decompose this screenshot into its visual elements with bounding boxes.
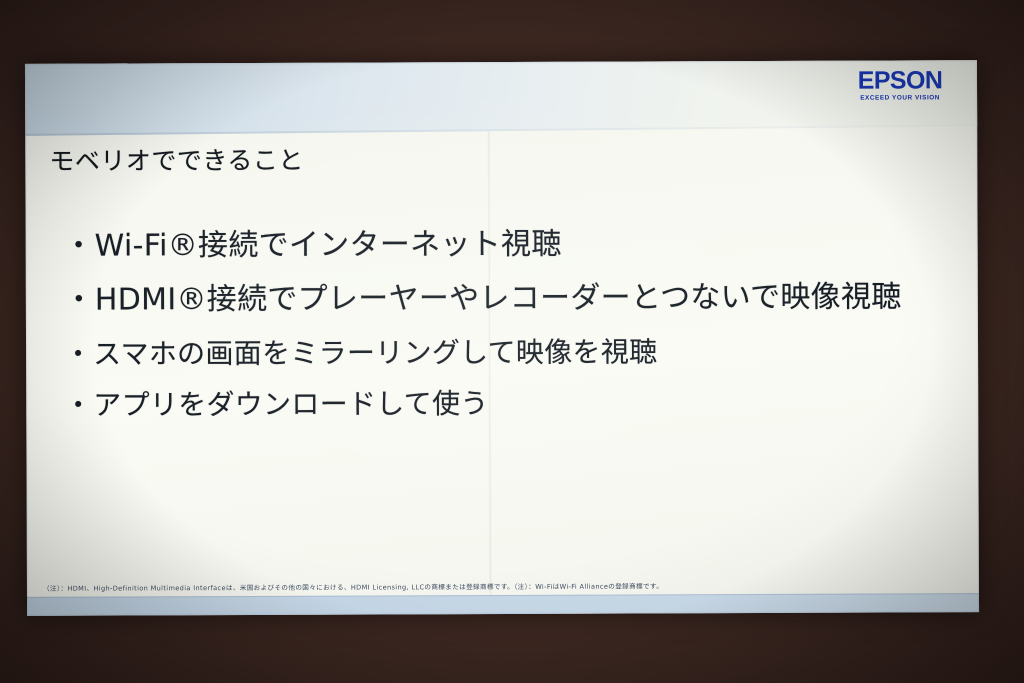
slide-surface: モベリオでできること EPSON EXCEED YOUR VISION ・ Wi…	[25, 60, 979, 616]
list-item-label: スマホの画面をミラーリングして映像を視聴	[93, 338, 657, 368]
list-item: ・ スマホの画面をミラーリングして映像を視聴	[64, 337, 958, 368]
bullet-marker-icon: ・	[64, 392, 92, 420]
header-band-underline	[26, 124, 978, 135]
epson-wordmark: EPSON	[851, 68, 949, 93]
bullet-marker-icon: ・	[64, 341, 92, 369]
list-item: ・ Wi-Fi®接続でインターネット視聴	[64, 228, 958, 261]
projected-slide: モベリオでできること EPSON EXCEED YOUR VISION ・ Wi…	[25, 60, 979, 616]
bullet-marker-icon: ・	[64, 232, 94, 262]
bullet-list: ・ Wi-Fi®接続でインターネット視聴 ・ HDMI®接続でプレーヤーやレコー…	[64, 228, 959, 419]
page-title: モベリオでできること	[49, 141, 304, 178]
slide-footer-band	[27, 593, 979, 616]
list-item-label: Wi-Fi®接続でインターネット視聴	[95, 230, 562, 262]
epson-tagline: EXCEED YOUR VISION	[851, 95, 949, 102]
projection-room: モベリオでできること EPSON EXCEED YOUR VISION ・ Wi…	[0, 0, 1024, 683]
slide-header-band	[25, 60, 978, 136]
list-item-label: アプリをダウンロードして使う	[93, 390, 488, 420]
epson-logo: EPSON EXCEED YOUR VISION	[851, 68, 949, 102]
footnote-text: （注）：HDMI、High-Definition Multimedia Inte…	[43, 582, 965, 593]
list-item-label: HDMI®接続でプレーヤーやレコーダーとつないで映像視聴	[95, 282, 902, 315]
list-item: ・ アプリをダウンロードして使う	[64, 388, 958, 419]
list-item: ・ HDMI®接続でプレーヤーやレコーダーとつないで映像視聴	[64, 282, 958, 315]
bullet-marker-icon: ・	[64, 286, 94, 316]
